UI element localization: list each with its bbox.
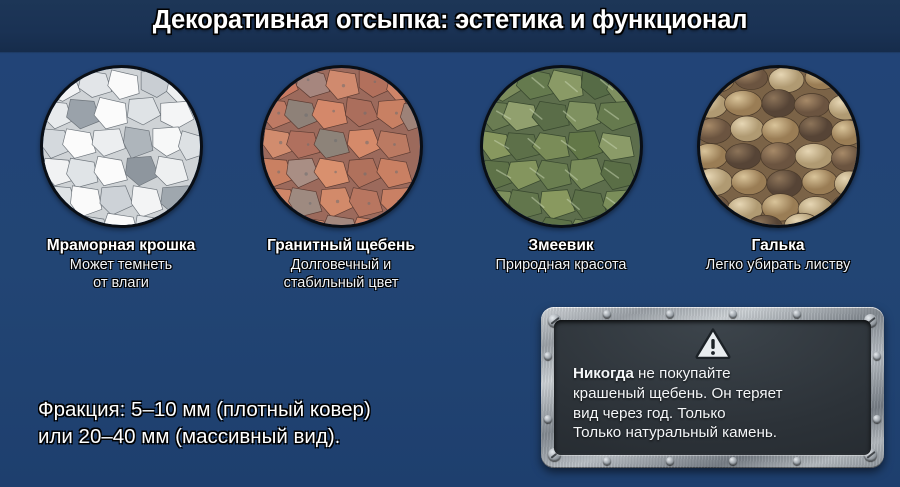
rivet-bottom-4 — [793, 457, 801, 465]
warning-plaque: Никогда не покупайте крашеный щебень. Он… — [541, 307, 884, 468]
plaque-screen: Никогда не покупайте крашеный щебень. Он… — [554, 320, 871, 455]
serpentine-stone-circle — [480, 65, 643, 228]
plaque-line-2: крашеный щебень. Он теряет — [573, 384, 861, 404]
warning-triangle-icon — [695, 327, 731, 364]
plaque-line-4: Только натуральный камень. — [573, 423, 861, 443]
plaque-warning-text: Никогда не покупайте крашеный щебень. Он… — [573, 364, 861, 443]
plaque-line-1-rest: не покупайте — [634, 365, 731, 382]
stone-card-title: Змеевик — [461, 237, 661, 255]
serpentine-stone-circle-wrap — [480, 65, 643, 228]
rivet-left-2 — [544, 415, 552, 423]
granite-gravel-circle-wrap — [260, 65, 423, 228]
plaque-line-1: Никогда не покупайте — [573, 364, 861, 384]
fraction-note-line2: или 20–40 мм (массивный вид). — [38, 423, 371, 450]
plaque-line-3: вид через год. Только — [573, 404, 861, 424]
stone-card-granite[interactable]: Гранитный щебень Долговечный и стабильны… — [241, 65, 441, 293]
page-title: Декоративная отсыпка: эстетика и функцио… — [0, 6, 900, 35]
stone-card-subtitle: Природная красота — [461, 257, 661, 275]
stone-card-subtitle-line: Может темнеть — [21, 257, 221, 275]
rivet-top-4 — [793, 310, 801, 318]
plaque-emphasis: Никогда — [573, 365, 634, 382]
stone-card-pebble[interactable]: Галька Легко убирать листву — [678, 65, 878, 275]
stone-card-subtitle-line: Легко убирать листву — [678, 257, 878, 275]
rivet-right-1 — [873, 352, 881, 360]
stone-card-subtitle: Может темнеть от влаги — [21, 257, 221, 293]
river-pebble-circle — [697, 65, 860, 228]
rivet-bottom-2 — [666, 457, 674, 465]
stone-card-marble[interactable]: Мраморная крошка Может темнеть от влаги — [21, 65, 221, 293]
stone-card-subtitle-line: от влаги — [21, 275, 221, 293]
stone-card-serpentine[interactable]: Змеевик Природная красота — [461, 65, 661, 275]
river-pebble-circle-wrap — [697, 65, 860, 228]
stone-card-title: Мраморная крошка — [21, 237, 221, 255]
rivet-left-1 — [544, 352, 552, 360]
rivet-top-2 — [666, 310, 674, 318]
stone-card-title: Гранитный щебень — [241, 237, 441, 255]
infographic-canvas: Декоративная отсыпка: эстетика и функцио… — [0, 0, 900, 487]
fraction-note: Фракция: 5–10 мм (плотный ковер) или 20–… — [38, 396, 371, 451]
rivet-bottom-1 — [603, 457, 611, 465]
granite-gravel-circle — [260, 65, 423, 228]
stone-card-subtitle: Долговечный и стабильный цвет — [241, 257, 441, 293]
stone-card-subtitle: Легко убирать листву — [678, 257, 878, 275]
stone-card-subtitle-line: стабильный цвет — [241, 275, 441, 293]
rivet-top-3 — [729, 310, 737, 318]
stone-card-subtitle-line: Природная красота — [461, 257, 661, 275]
stone-card-title: Галька — [678, 237, 878, 255]
rivet-right-2 — [873, 415, 881, 423]
stone-card-subtitle-line: Долговечный и — [241, 257, 441, 275]
rivet-top-1 — [603, 310, 611, 318]
fraction-note-line1: Фракция: 5–10 мм (плотный ковер) — [38, 396, 371, 423]
marble-chips-circle-wrap — [40, 65, 203, 228]
rivet-bottom-3 — [729, 457, 737, 465]
marble-chips-circle — [40, 65, 203, 228]
